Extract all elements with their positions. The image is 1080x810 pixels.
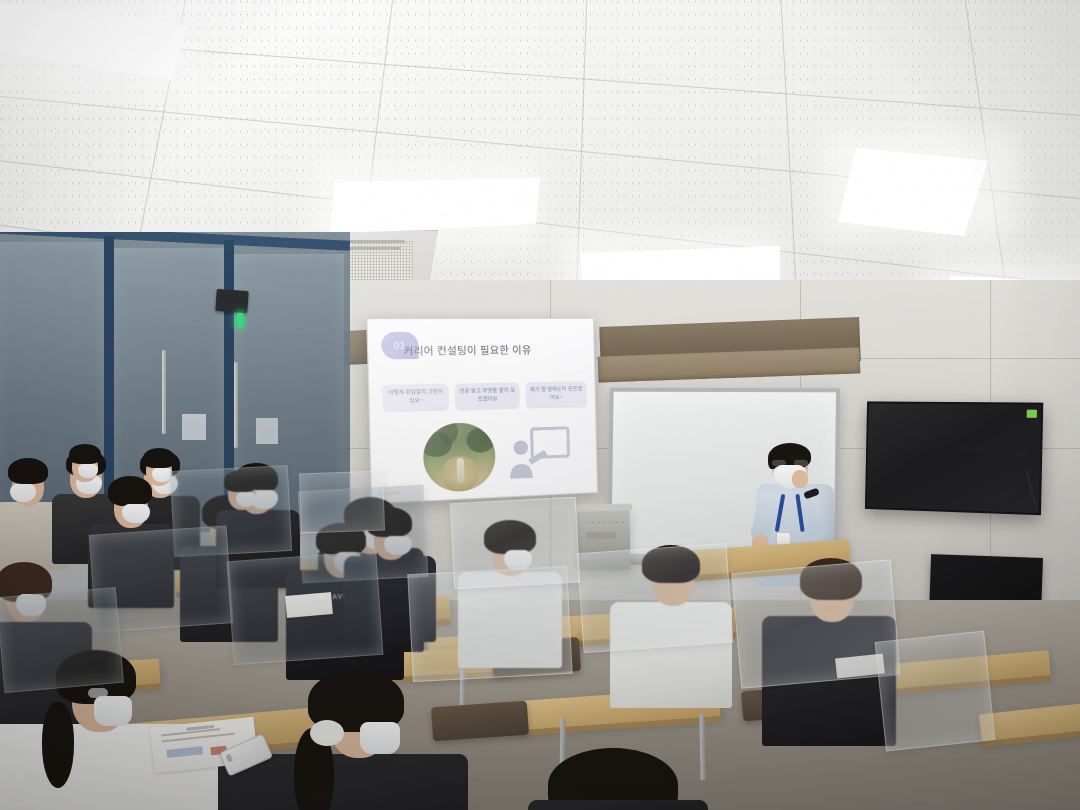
student-ponytail xyxy=(42,702,74,788)
presenter-hand-right xyxy=(792,470,808,488)
acrylic-desk-divider xyxy=(0,587,124,693)
printed-handout[interactable] xyxy=(285,592,333,618)
ceiling-light-4 xyxy=(838,148,988,236)
projection-screen: 01 커리어 컨설팅이 필요한 이유 어떻게 취업할지 고민이 있요~ 전공 말… xyxy=(366,318,598,504)
wall-speaker xyxy=(215,289,248,313)
student-hair xyxy=(8,458,48,484)
slide-bubble: 어떻게 취업할지 고민이 있요~ xyxy=(382,384,449,413)
acrylic-desk-divider xyxy=(577,543,734,653)
glasses-icon xyxy=(88,688,108,698)
slide-title: 커리어 컨설팅이 필요한 이유 xyxy=(403,341,532,358)
acrylic-desk-divider xyxy=(875,631,996,752)
lectern-label xyxy=(586,532,616,540)
tv-sticker-icon xyxy=(1027,410,1037,418)
face-mask xyxy=(10,484,36,502)
face-mask xyxy=(360,722,400,754)
student-hair xyxy=(69,444,101,464)
classroom-photo: 01 커리어 컨설팅이 필요한 이유 어떻게 취업할지 고민이 있요~ 전공 말… xyxy=(0,0,1080,810)
student-chair xyxy=(431,701,529,742)
face-mask xyxy=(152,468,172,482)
door-handle[interactable] xyxy=(234,362,238,448)
door-sign xyxy=(182,414,206,440)
student-hair xyxy=(108,476,152,506)
status-led-icon xyxy=(237,313,243,327)
slide-bubble: 전공 말고 무엇을 할지 모르겠어요 xyxy=(455,382,520,410)
presentation-slide: 01 커리어 컨설팅이 필요한 이유 어떻게 취업할지 고민이 있요~ 전공 말… xyxy=(367,319,597,503)
hair-scrunchie xyxy=(310,720,344,746)
slide-bubble: 제가 뭘 잘하는지 모르겠어요~ xyxy=(525,381,587,409)
acrylic-desk-divider xyxy=(299,471,385,534)
slide-photo-forked-road xyxy=(423,422,497,493)
door-handle[interactable] xyxy=(162,350,166,434)
face-mask xyxy=(78,464,98,478)
face-mask xyxy=(94,696,132,726)
door-sign xyxy=(256,418,278,444)
slide-presenter-board-icon xyxy=(507,424,571,483)
slide-bubble-row: 어떻게 취업할지 고민이 있요~ 전공 말고 무엇을 할지 모르겠어요 제가 뭘… xyxy=(382,381,587,412)
wall-mounted-tv[interactable] xyxy=(865,401,1043,515)
acrylic-desk-divider xyxy=(450,497,580,589)
student-shirt xyxy=(528,800,708,810)
face-mask xyxy=(122,504,150,523)
student-hair xyxy=(143,448,175,468)
